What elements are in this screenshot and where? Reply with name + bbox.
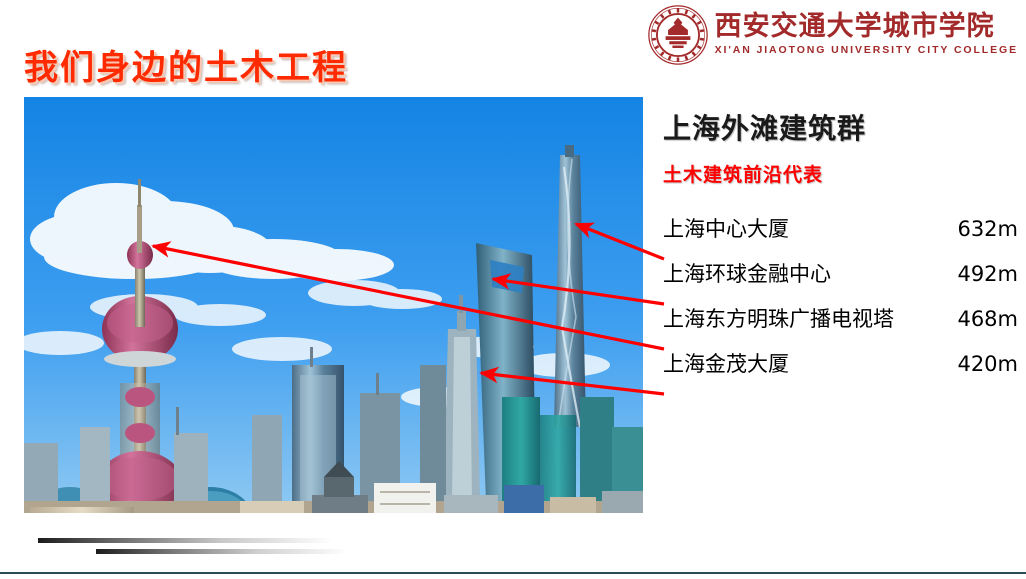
list-item: 上海东方明珠广播电视塔 468m <box>663 303 1018 348</box>
gradient-rule-upper <box>38 538 333 543</box>
building-height: 420m <box>956 352 1018 376</box>
list-item: 上海中心大厦 632m <box>663 213 1018 258</box>
panel-subheading: 土木建筑前沿代表 <box>663 160 1018 187</box>
building-name: 上海金茂大厦 <box>663 348 956 378</box>
panel-heading: 上海外滩建筑群 <box>663 112 1018 146</box>
building-name: 上海中心大厦 <box>663 213 956 243</box>
logo-chinese-name: 西安交通大学城市学院 <box>715 12 1018 42</box>
logo-wordmark: 西安交通大学城市学院 XI'AN JIAOTONG UNIVERSITY CIT… <box>715 12 1018 57</box>
shanghai-skyline-photo <box>24 97 643 513</box>
building-height: 632m <box>956 217 1018 241</box>
building-name: 上海东方明珠广播电视塔 <box>663 303 956 333</box>
gradient-rule-lower <box>96 549 348 554</box>
list-item: 上海环球金融中心 492m <box>663 258 1018 303</box>
page-title: 我们身边的土木工程 <box>24 40 348 89</box>
info-panel: 上海外滩建筑群 土木建筑前沿代表 上海中心大厦 632m 上海环球金融中心 49… <box>663 112 1018 393</box>
building-list: 上海中心大厦 632m 上海环球金融中心 492m 上海东方明珠广播电视塔 46… <box>663 213 1018 393</box>
skyline-illustration <box>24 97 643 513</box>
university-logo: 西安交通大学城市学院 XI'AN JIAOTONG UNIVERSITY CIT… <box>647 4 1018 66</box>
list-item: 上海金茂大厦 420m <box>663 348 1018 393</box>
building-name: 上海环球金融中心 <box>663 258 956 288</box>
building-height: 468m <box>956 307 1018 331</box>
building-height: 492m <box>956 262 1018 286</box>
logo-english-name: XI'AN JIAOTONG UNIVERSITY CITY COLLEGE <box>715 44 1018 58</box>
slide-bottom-border <box>0 572 1026 574</box>
university-seal-icon <box>647 4 709 66</box>
